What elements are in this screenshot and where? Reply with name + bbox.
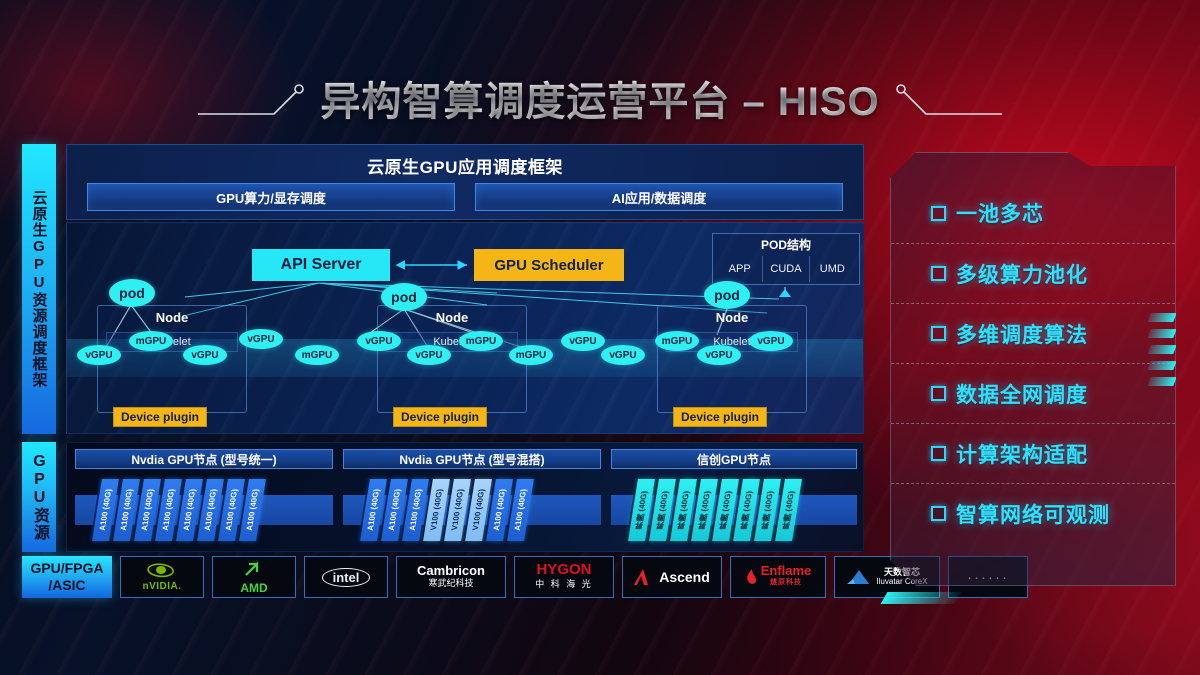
gpu-instance-vgpu-1-0[interactable]: vGPU — [357, 331, 401, 351]
gpu-instance-vgpu-0-2[interactable]: vGPU — [183, 345, 227, 365]
vendor-logo-ascend[interactable]: Ascend — [622, 556, 722, 598]
checkbox-icon — [931, 206, 946, 221]
pod-structure-cells: APP CUDA UMD — [717, 256, 855, 282]
title-right-decoration — [894, 78, 1004, 118]
pod-structure-box: POD结构 APP CUDA UMD — [712, 233, 860, 285]
feature-label: 一池多芯 — [956, 198, 1044, 228]
feature-item-1[interactable]: 多级算力池化 — [891, 243, 1175, 303]
vendor-sub-hygon: 中 科 海 光 — [535, 577, 593, 591]
gpu-instance-mgpu-1-3[interactable]: mGPU — [509, 345, 553, 365]
device-plugin-3[interactable]: Device plugin — [673, 407, 767, 427]
gpu-card-label: 昇腾 (40G) — [633, 491, 650, 530]
feature-item-3[interactable]: 数据全网调度 — [891, 363, 1175, 423]
gpu-card-label: A100 (40G) — [366, 489, 382, 531]
vendor-logo-enflame[interactable]: Enflame 燧原科技 — [730, 556, 826, 598]
gpu-card-label: A100 (40G) — [408, 489, 424, 531]
checkbox-icon — [931, 446, 946, 461]
iluvatar-mountain-icon — [846, 568, 872, 586]
api-server-node[interactable]: API Server — [252, 249, 390, 281]
gpu-card-label: 昇腾 (40G) — [675, 491, 692, 530]
feature-label: 多级算力池化 — [956, 259, 1088, 289]
gpu-instance-mgpu-0-4[interactable]: mGPU — [295, 345, 339, 365]
gpu-card-label: A100 (40G) — [387, 489, 403, 531]
vendor-logo-amd[interactable]: AMD — [212, 556, 296, 598]
vendor-name-hygon: HYGON — [536, 561, 591, 578]
gpu-card-label: A100 (40G) — [161, 489, 177, 531]
gpu-group-header-3: 信创GPU节点 — [611, 449, 857, 469]
checkbox-icon — [931, 266, 946, 281]
checkbox-icon — [931, 506, 946, 521]
checkbox-icon — [931, 386, 946, 401]
gpu-instance-vgpu-2-2[interactable]: vGPU — [749, 331, 793, 351]
vendor-logo-cambricon[interactable]: Cambricon 寒武纪科技 — [396, 556, 506, 598]
vendor-name-amd: AMD — [240, 581, 267, 595]
gpu-instance-mgpu-0-1[interactable]: mGPU — [129, 331, 173, 351]
gpu-card-label: 昇腾 (40G) — [696, 491, 713, 530]
scheduling-detail-panel: API Server GPU Scheduler POD结构 APP CUDA … — [66, 222, 864, 434]
gpu-card-label: 昇腾 (40G) — [654, 491, 671, 530]
cloud-native-framework-panel: 云原生GPU应用调度框架 GPU算力/显存调度 AI应用/数据调度 — [66, 144, 864, 220]
gpu-card-label: 昇腾 (40G) — [780, 491, 797, 530]
pod-1[interactable]: pod — [109, 279, 155, 307]
vendor-tag-line2: /ASIC — [48, 577, 85, 594]
pill-compute-memory-scheduling[interactable]: GPU算力/显存调度 — [87, 183, 455, 211]
gpu-card-label: A100 (40G) — [492, 489, 508, 531]
gpu-instance-vgpu-1-1[interactable]: vGPU — [407, 345, 451, 365]
gpu-scheduler-node[interactable]: GPU Scheduler — [474, 249, 624, 281]
gpu-card-label: 昇腾 (40G) — [738, 491, 755, 530]
gpu-node-group-3: 信创GPU节点 昇腾 (40G)昇腾 (40G)昇腾 (40G)昇腾 (40G)… — [611, 449, 857, 547]
vendor-logo-bar: GPU/FPGA /ASIC nVIDIA. AMD intel Cambric… — [22, 556, 864, 598]
vendor-logo-nvidia[interactable]: nVIDIA. — [120, 556, 204, 598]
gpu-group-body-3: 昇腾 (40G)昇腾 (40G)昇腾 (40G)昇腾 (40G)昇腾 (40G)… — [611, 475, 857, 543]
pod-cell-cuda: CUDA — [762, 256, 808, 282]
nvidia-eye-icon — [145, 562, 179, 578]
architecture-diagram: 云原生GPU资源调度框架 GPU资源 云原生GPU应用调度框架 GPU算力/显存… — [22, 144, 864, 596]
pod-3[interactable]: pod — [704, 281, 750, 309]
gpu-card-label: V100 (40G) — [429, 489, 445, 530]
panel-accent-bottom-left — [881, 592, 962, 604]
vendor-logo-hygon[interactable]: HYGON 中 科 海 光 — [514, 556, 614, 598]
pod-cell-umd: UMD — [809, 256, 855, 282]
gpu-card-label: A100 (40G) — [98, 489, 114, 531]
amd-arrow-icon — [243, 560, 265, 578]
gpu-instance-vgpu-1-4[interactable]: vGPU — [561, 331, 605, 351]
device-plugin-2[interactable]: Device plugin — [393, 407, 487, 427]
gpu-instance-vgpu-0-0[interactable]: vGPU — [77, 345, 121, 365]
feature-item-5[interactable]: 智算网络可观测 — [891, 483, 1175, 543]
gpu-card-label: 昇腾 (40G) — [759, 491, 776, 530]
vendor-sub-cambricon: 寒武纪科技 — [417, 577, 485, 590]
vendor-name-cambricon: Cambricon — [417, 563, 485, 578]
pod-structure-title: POD结构 — [713, 236, 859, 253]
rail-label-vendor: GPU/FPGA /ASIC — [22, 556, 112, 598]
gpu-resource-panel: Nvdia GPU节点 (型号统一) A100 (40G)A100 (40G)A… — [66, 442, 864, 552]
gpu-card-label: A100 (40G) — [140, 489, 156, 531]
panel-stripe-decoration — [1149, 313, 1175, 423]
pod-2[interactable]: pod — [381, 283, 427, 311]
features-panel: 一池多芯多级算力池化多维调度算法数据全网调度计算架构适配智算网络可观测 — [890, 152, 1176, 586]
node-label-1: Node — [98, 310, 246, 325]
gpu-instance-vgpu-2-1[interactable]: vGPU — [697, 345, 741, 365]
pill-ai-app-data-scheduling[interactable]: AI应用/数据调度 — [475, 183, 843, 211]
page-title: 异构智算调度运营平台 – HISO — [320, 69, 879, 127]
node-label-2: Node — [378, 310, 526, 325]
node-label-3: Node — [658, 310, 806, 325]
gpu-group-body-1: A100 (40G)A100 (40G)A100 (40G)A100 (40G)… — [75, 475, 333, 543]
feature-label: 计算架构适配 — [956, 439, 1088, 469]
gpu-card-label: A100 (40G) — [203, 489, 219, 531]
gpu-card-label: 昇腾 (40G) — [717, 491, 734, 530]
page-title-row: 异构智算调度运营平台 – HISO — [0, 62, 1200, 134]
feature-label: 数据全网调度 — [956, 379, 1088, 409]
gpu-instance-vgpu-0-3[interactable]: vGPU — [239, 329, 283, 349]
device-plugin-1[interactable]: Device plugin — [113, 407, 207, 427]
gpu-instance-vgpu-1-5[interactable]: vGPU — [601, 345, 645, 365]
gpu-card-label: A100 (40G) — [119, 489, 135, 531]
gpu-instance-mgpu-1-2[interactable]: mGPU — [459, 331, 503, 351]
feature-label: 多维调度算法 — [956, 319, 1088, 349]
gpu-group-body-2: A100 (40G)A100 (40G)A100 (40G)V100 (40G)… — [343, 475, 601, 543]
gpu-card-label: A100 (40G) — [513, 489, 529, 531]
feature-item-4[interactable]: 计算架构适配 — [891, 423, 1175, 483]
enflame-flame-icon — [745, 568, 758, 586]
vendor-name-ascend: Ascend — [659, 569, 710, 585]
gpu-card-label: A100 (40G) — [245, 489, 261, 531]
vendor-tag-line1: GPU/FPGA — [30, 560, 103, 577]
feature-label: 智算网络可观测 — [956, 499, 1110, 529]
gpu-group-header-2: Nvdia GPU节点 (型号混搭) — [343, 449, 601, 469]
feature-item-0[interactable]: 一池多芯 — [891, 183, 1175, 243]
gpu-instance-mgpu-2-0[interactable]: mGPU — [655, 331, 699, 351]
gpu-group-header-1: Nvdia GPU节点 (型号统一) — [75, 449, 333, 469]
vendor-logo-intel[interactable]: intel — [304, 556, 388, 598]
framework-panel-title: 云原生GPU应用调度框架 — [67, 153, 863, 178]
vendor-name-nvidia: nVIDIA. — [142, 581, 181, 592]
gpu-card-label: A100 (40G) — [224, 489, 240, 531]
rail-label-gpu-resource: GPU资源 — [22, 442, 56, 552]
gpu-node-group-1: Nvdia GPU节点 (型号统一) A100 (40G)A100 (40G)A… — [75, 449, 333, 547]
node-box-2: Node Kubelet — [377, 305, 527, 413]
vendor-name-intel: intel — [322, 568, 371, 587]
title-left-decoration — [196, 78, 306, 118]
rail-label-framework: 云原生GPU资源调度框架 — [22, 144, 56, 434]
vendor-sub-enflame: 燧原科技 — [761, 577, 812, 589]
gpu-card-label: V100 (40G) — [471, 489, 487, 530]
vendor-name-enflame: Enflame — [761, 563, 812, 578]
gpu-node-group-2: Nvdia GPU节点 (型号混搭) A100 (40G)A100 (40G)A… — [343, 449, 601, 547]
gpu-card-label: A100 (40G) — [182, 489, 198, 531]
features-list: 一池多芯多级算力池化多维调度算法数据全网调度计算架构适配智算网络可观测 — [891, 183, 1175, 543]
checkbox-icon — [931, 326, 946, 341]
feature-item-2[interactable]: 多维调度算法 — [891, 303, 1175, 363]
pod-cell-app: APP — [717, 256, 762, 282]
ascend-mark-icon — [634, 568, 654, 586]
gpu-card-label: V100 (40G) — [450, 489, 466, 530]
